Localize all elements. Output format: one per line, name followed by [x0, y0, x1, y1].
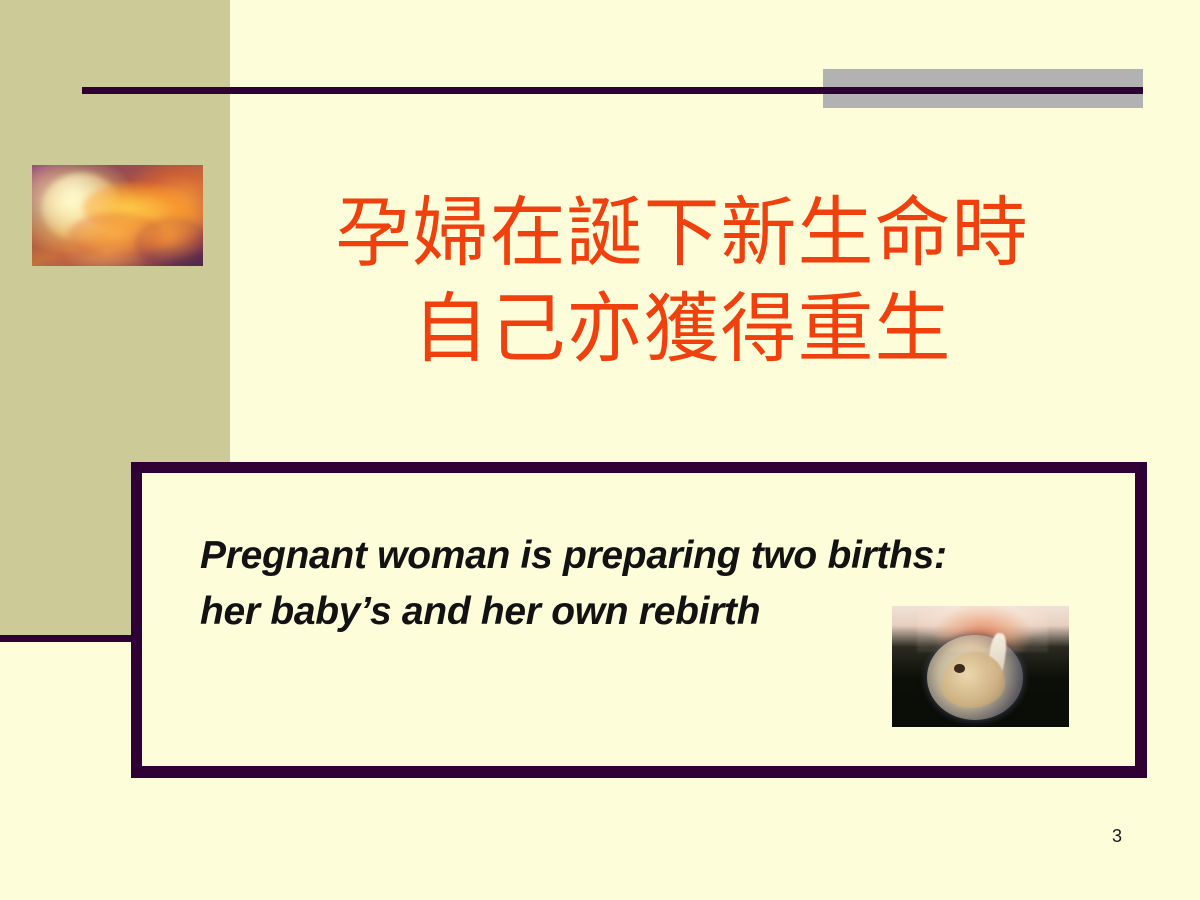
page-number: 3: [1112, 826, 1122, 847]
body-text-line-1: Pregnant woman is preparing two births:: [200, 528, 1080, 584]
slide-title: 孕婦在誕下新生命時 自己亦獲得重生: [232, 186, 1132, 378]
abstract-flame-painting-image: [32, 165, 203, 266]
decorative-bottom-rule: [0, 635, 140, 642]
decorative-top-rule: [82, 87, 1143, 94]
presentation-slide: 孕婦在誕下新生命時 自己亦獲得重生 Pregnant woman is prep…: [0, 0, 1200, 900]
embryo-photo-image: [892, 606, 1069, 727]
fetus-eye: [954, 664, 965, 672]
fetus-body: [942, 652, 1006, 708]
slide-title-line-1: 孕婦在誕下新生命時: [232, 186, 1132, 282]
slide-title-line-2: 自己亦獲得重生: [232, 282, 1132, 378]
painting-right-swirl: [135, 218, 203, 266]
